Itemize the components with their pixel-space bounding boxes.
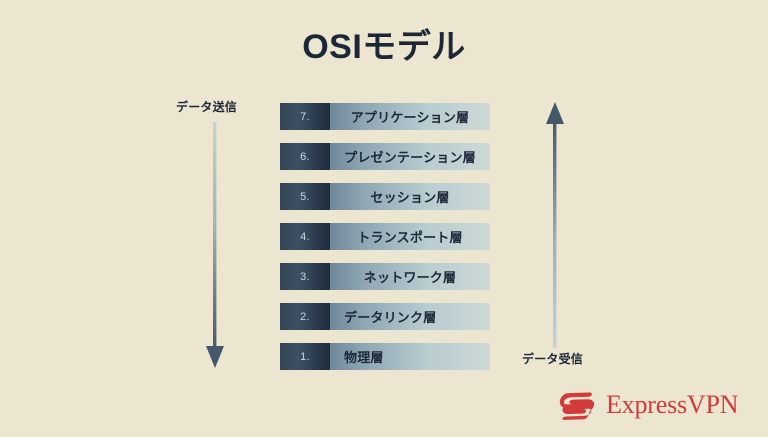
layer-number: 6. (280, 143, 330, 170)
arrow-down-icon (195, 122, 235, 370)
arrow-up-icon (535, 100, 575, 348)
layer-number: 7. (280, 103, 330, 130)
osi-layer-row: 5. セッション層 (280, 183, 490, 210)
layer-name: ネットワーク層 (330, 263, 490, 290)
layer-name: セッション層 (330, 183, 490, 210)
page-title: OSIモデル (0, 26, 768, 68)
osi-layer-row: 6. プレゼンテーション層 (280, 143, 490, 170)
layer-number: 1. (280, 343, 330, 370)
data-receive-arrow (535, 100, 575, 348)
layer-number: 2. (280, 303, 330, 330)
osi-layer-list: 7. アプリケーション層 6. プレゼンテーション層 5. セッション層 4. … (280, 103, 490, 383)
expressvpn-wordmark: ExpressVPN (606, 391, 738, 419)
layer-number: 4. (280, 223, 330, 250)
layer-name: データリンク層 (330, 303, 490, 330)
expressvpn-e-mark-icon (558, 390, 596, 420)
data-receive-label: データ受信 (522, 350, 583, 367)
osi-model-diagram: OSIモデル データ送信 (0, 0, 768, 437)
expressvpn-logo: ExpressVPN (558, 390, 738, 420)
osi-layer-row: 2. データリンク層 (280, 303, 490, 330)
layer-name: トランスポート層 (330, 223, 490, 250)
osi-layer-row: 1. 物理層 (280, 343, 490, 370)
layer-name: アプリケーション層 (330, 103, 490, 130)
layer-number: 5. (280, 183, 330, 210)
data-send-label: データ送信 (176, 98, 237, 115)
layer-name: プレゼンテーション層 (330, 143, 490, 170)
layer-name: 物理層 (330, 343, 490, 370)
data-send-arrow (195, 122, 235, 370)
osi-layer-row: 4. トランスポート層 (280, 223, 490, 250)
layer-number: 3. (280, 263, 330, 290)
osi-layer-row: 3. ネットワーク層 (280, 263, 490, 290)
osi-layer-row: 7. アプリケーション層 (280, 103, 490, 130)
